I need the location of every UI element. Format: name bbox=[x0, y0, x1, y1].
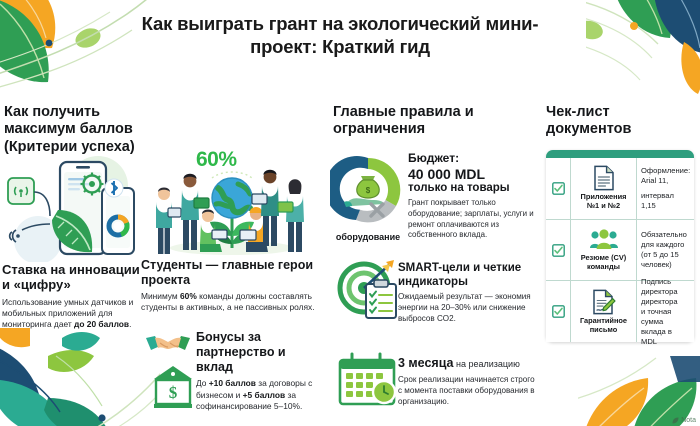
innovation-body: Использование умных датчиков и мобильных… bbox=[2, 297, 148, 331]
budget-restriction: только на товары bbox=[408, 182, 536, 195]
term-body: Срок реализации начинается строго с моме… bbox=[398, 375, 540, 408]
documents-checklist-table: Приложения№1 и №2 Оформление: Arial 11, … bbox=[546, 150, 694, 342]
signed-document-icon bbox=[592, 289, 616, 315]
leaf-decoration-bottom-right bbox=[578, 356, 700, 426]
block-smart-goals: SMART-цели и четкие индикаторы Ожидаемый… bbox=[398, 262, 538, 325]
row-icon-cell: Резюме (CV)команды bbox=[571, 220, 637, 281]
svg-text:$: $ bbox=[366, 186, 371, 195]
smart-monitoring-illustration bbox=[2, 152, 148, 262]
block-bonus: Бонусы за партнерство и вклад До +10 бал… bbox=[196, 330, 324, 412]
students-heading: Студенты — главные герои проекта bbox=[141, 258, 321, 288]
smart-body: Ожидаемый результат — экономия энергии н… bbox=[398, 292, 538, 325]
budget-label: Бюджет: bbox=[408, 152, 536, 166]
bonus-heading: Бонусы за партнерство и вклад bbox=[196, 330, 324, 374]
bonus-body: До +10 баллов за договоры с бизнесом и +… bbox=[196, 378, 324, 412]
row-detail: Оформление: Arial 11, интервал 1,15 bbox=[637, 158, 694, 219]
smart-heading: SMART-цели и четкие индикаторы bbox=[398, 262, 538, 289]
section-heading-checklist: Чек-лист документов bbox=[546, 104, 696, 139]
team-icon bbox=[589, 228, 619, 252]
row-icon-cell: Приложения№1 и №2 bbox=[571, 158, 637, 219]
row-detail: Подпись директора директора и точная сум… bbox=[637, 281, 694, 342]
block-budget: Бюджет: 40 000 MDL только на товары Гран… bbox=[408, 152, 536, 241]
innovation-heading: Ставка на инновации и «цифру» bbox=[2, 262, 148, 293]
section-heading-criteria: Как получить максимум баллов (Критерии у… bbox=[4, 104, 164, 156]
row-label: Приложения№1 и №2 bbox=[581, 193, 627, 211]
leaf-decoration-bottom-left bbox=[0, 328, 160, 426]
students-percentage: 60% bbox=[196, 148, 237, 172]
table-row[interactable]: Гарантийноеписьмо Подпись директора дире… bbox=[546, 281, 694, 342]
document-icon bbox=[593, 165, 615, 191]
row-detail: Обязательно для каждого (от 5 до 15 чело… bbox=[637, 220, 694, 281]
checkbox-checked-icon bbox=[552, 182, 565, 195]
table-row[interactable]: Резюме (CV)команды Обязательно для каждо… bbox=[546, 220, 694, 282]
budget-body: Грант покрывает только оборудование; зар… bbox=[408, 198, 536, 241]
bank-funding-icon: $ bbox=[152, 364, 194, 410]
handshake-icon bbox=[144, 330, 192, 360]
block-innovation: Ставка на инновации и «цифру» Использова… bbox=[2, 262, 148, 330]
checkbox-checked-icon bbox=[552, 305, 565, 318]
term-heading: 3 месяца на реализацию bbox=[398, 354, 540, 372]
table-row[interactable]: Приложения№1 и №2 Оформление: Arial 11, … bbox=[546, 158, 694, 220]
infographic-canvas: Как выиграть грант на экологический мини… bbox=[0, 0, 700, 426]
calendar-deadline-icon bbox=[336, 352, 402, 410]
budget-amount: 40 000 MDL bbox=[408, 166, 536, 182]
block-students: Студенты — главные герои проекта Минимум… bbox=[141, 258, 321, 313]
row-checkbox[interactable] bbox=[546, 220, 571, 281]
block-term: 3 месяца на реализацию Срок реализации н… bbox=[398, 354, 540, 408]
svg-text:$: $ bbox=[169, 383, 178, 402]
watermark: Nota bbox=[672, 417, 696, 424]
leaf-decoration-top-right bbox=[586, 0, 700, 100]
row-label: Резюме (CV)команды bbox=[581, 254, 627, 272]
donut-chart-label: оборудование bbox=[327, 232, 409, 242]
leaf-watermark-icon bbox=[672, 417, 679, 424]
checkbox-checked-icon bbox=[552, 244, 565, 257]
students-body: Минимум 60% команды должны составлять ст… bbox=[141, 291, 321, 314]
page-title: Как выиграть грант на экологический мини… bbox=[120, 12, 560, 59]
row-checkbox[interactable] bbox=[546, 158, 571, 219]
row-checkbox[interactable] bbox=[546, 281, 571, 342]
section-heading-rules: Главные правила и ограничения bbox=[333, 104, 513, 139]
row-icon-cell: Гарантийноеписьмо bbox=[571, 281, 637, 342]
row-label: Гарантийноеписьмо bbox=[580, 317, 627, 335]
budget-donut-chart: $ bbox=[330, 152, 406, 230]
smart-target-icon bbox=[336, 258, 402, 320]
